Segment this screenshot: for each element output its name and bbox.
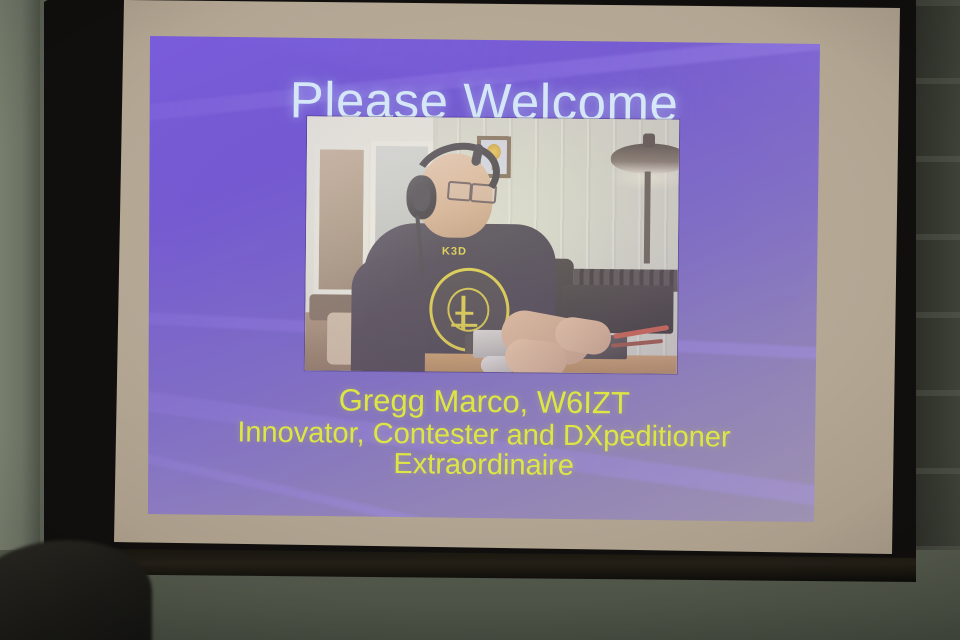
photo-lamp-pole — [644, 171, 651, 263]
photo-person-shoulder — [351, 257, 428, 374]
photo-lamp-knob — [643, 133, 655, 147]
photo-headphone-earcup-inner — [412, 183, 430, 211]
photo-shirt-logo-tower-base — [451, 324, 477, 327]
room-scene: Please Welcome K3D — [0, 0, 960, 640]
photo-shirt-logo-text: K3D — [442, 246, 476, 259]
photo-lamp-shade — [611, 143, 680, 174]
photo-shirt-logo-tower-arm — [455, 312, 473, 315]
slide-caption: Gregg Marco, W6IZT Innovator, Contester … — [148, 382, 820, 484]
projected-slide: Please Welcome K3D — [148, 34, 820, 522]
slide-photo: K3D — [305, 116, 679, 374]
